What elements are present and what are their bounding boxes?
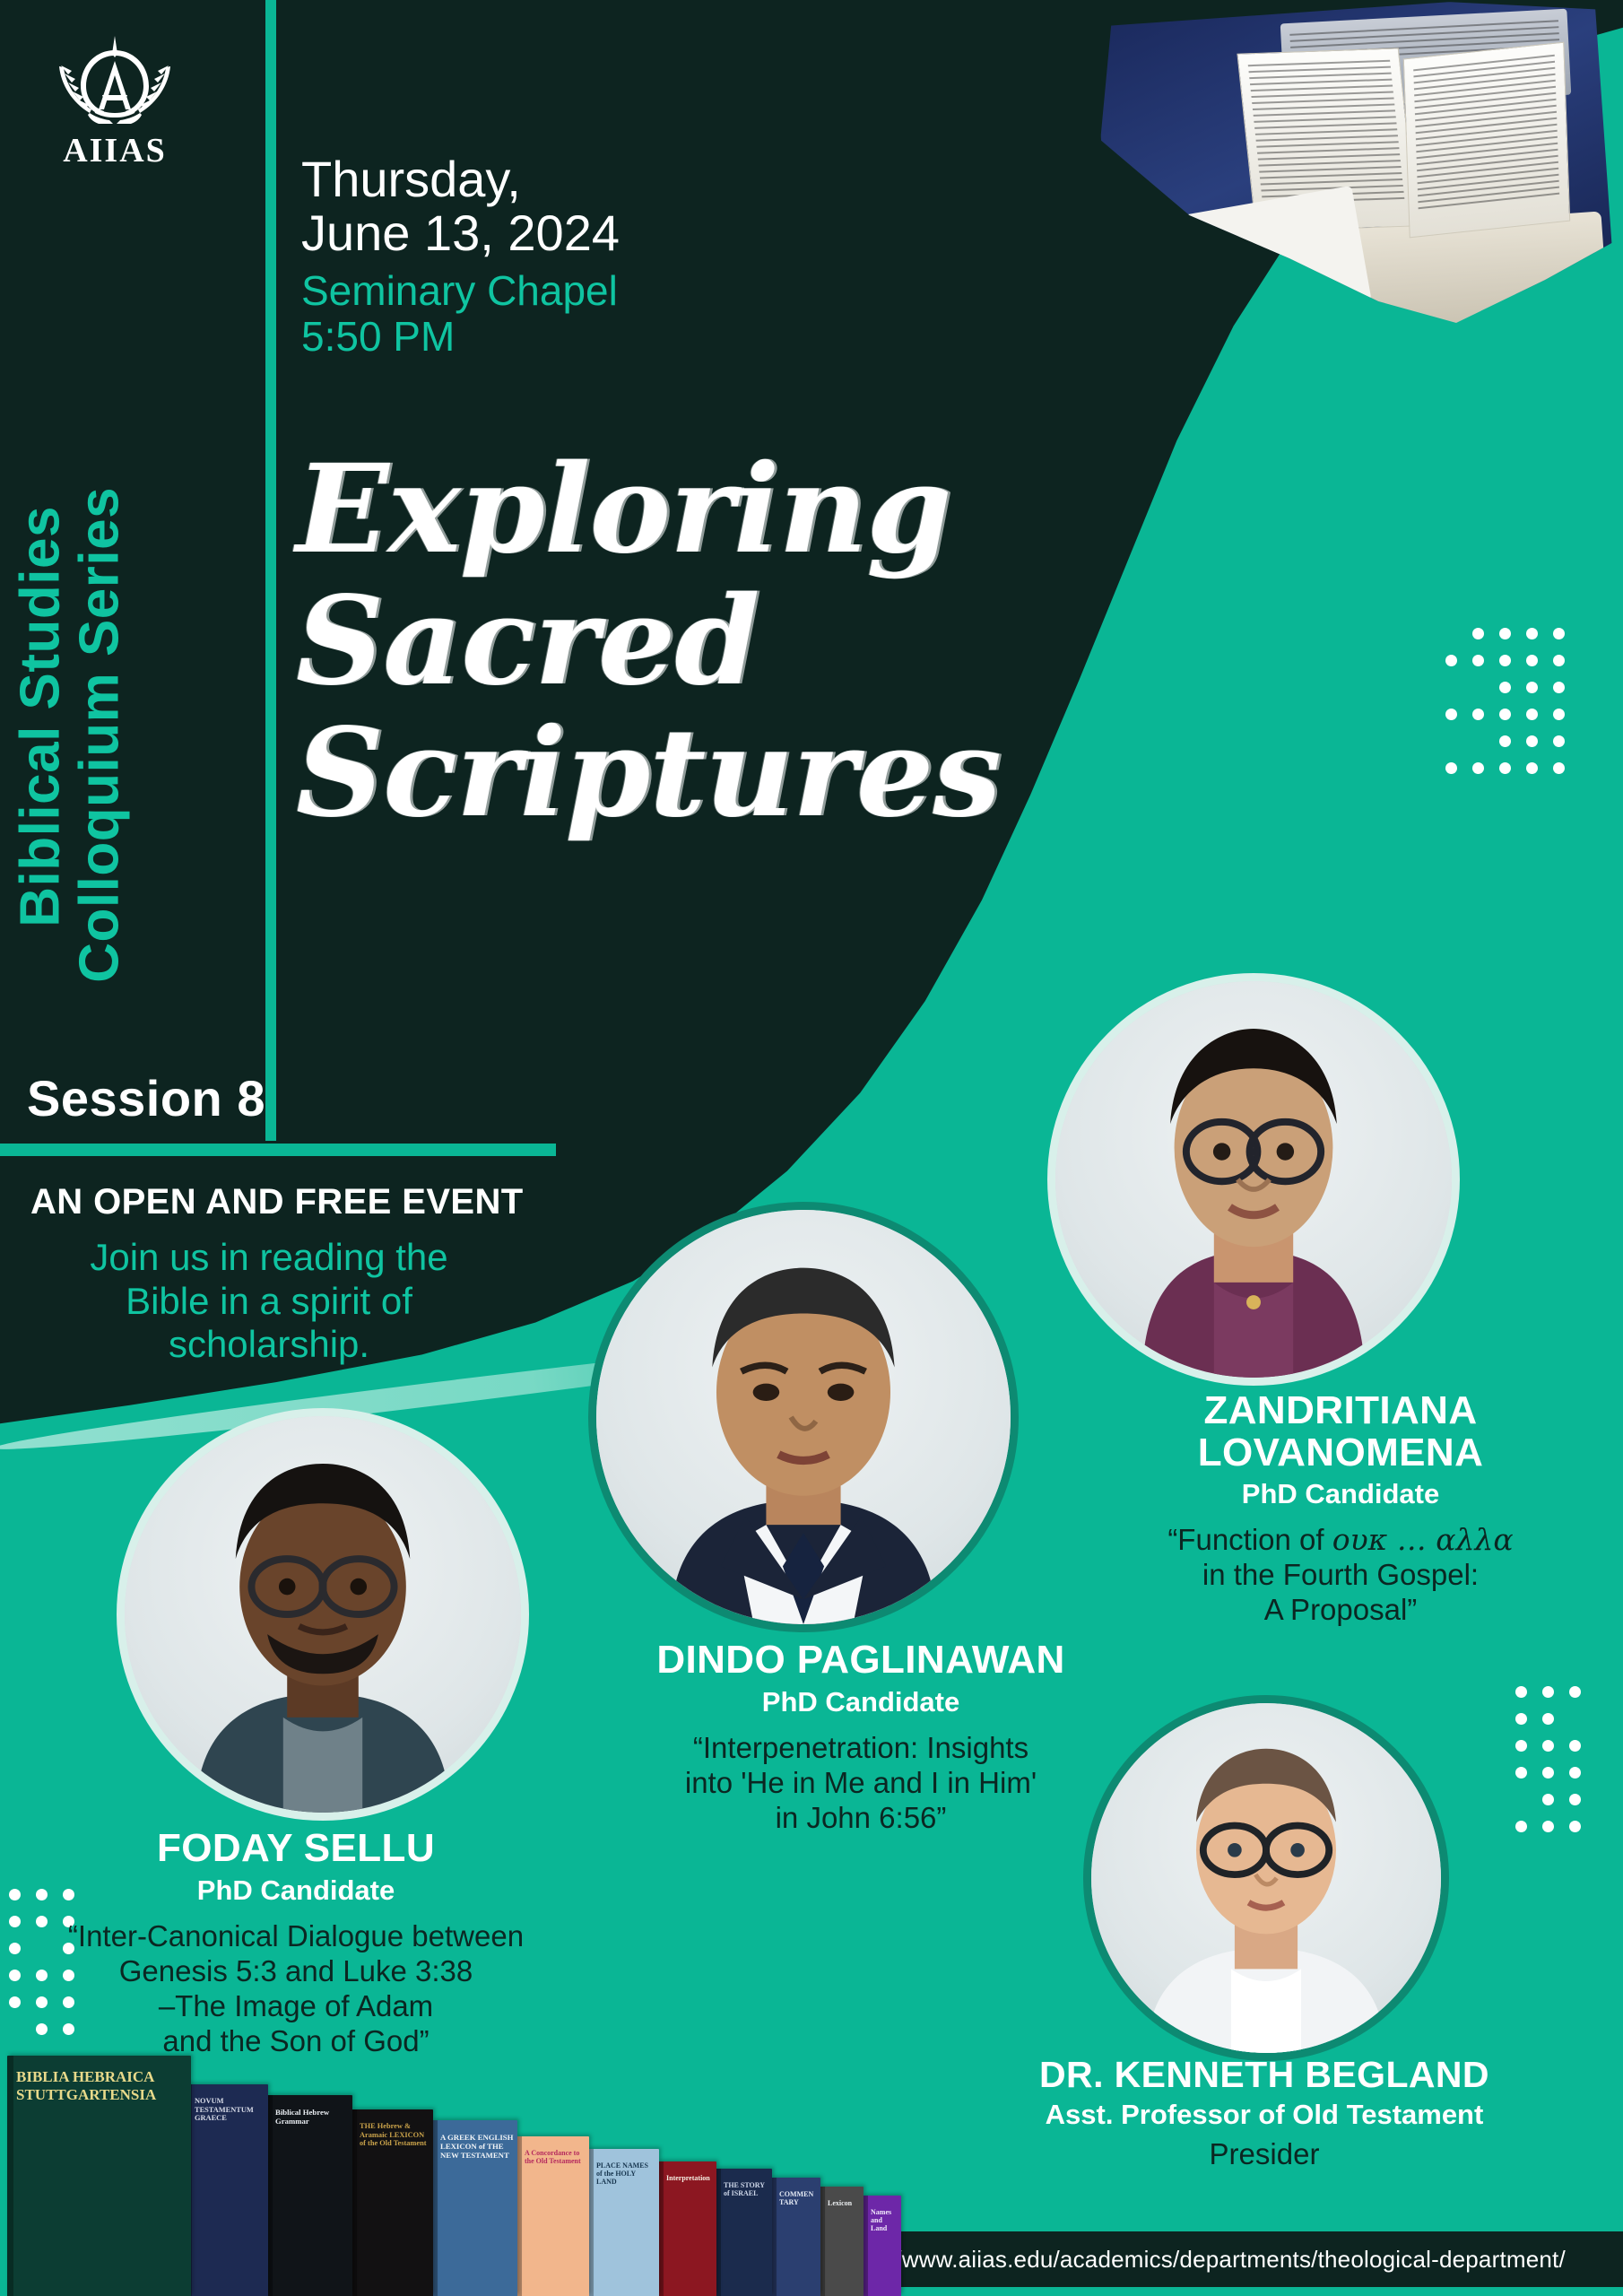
decorative-dot — [1472, 709, 1484, 720]
decorative-dot — [1472, 655, 1484, 666]
decorative-dot — [1542, 1767, 1554, 1779]
decorative-dot — [1542, 1686, 1554, 1698]
decorative-dot — [1526, 628, 1538, 639]
presenter-name: FODAY SELLU — [18, 1828, 574, 1870]
presenter-role: PhD Candidate — [18, 1874, 574, 1907]
series-title-vertical: Biblical Studies Colloquium Series — [11, 212, 128, 983]
decorative-dot — [1569, 1794, 1581, 1805]
dot-grid-top-right — [1445, 628, 1598, 798]
portrait-foday — [117, 1408, 529, 1821]
presenter-name-line2: LOVANOMENA — [1089, 1432, 1592, 1474]
paper-line-1: “Interpenetration: Insights — [601, 1731, 1121, 1766]
presenter-name-line1: ZANDRITIANA — [1089, 1390, 1592, 1432]
decorative-dot — [1499, 628, 1511, 639]
decorative-dot — [1542, 1740, 1554, 1752]
decorative-dot — [1526, 709, 1538, 720]
aiias-logo: AIIAS — [39, 34, 190, 167]
tagline-line-2: Bible in a spirit of — [36, 1280, 502, 1324]
title-line-2: Sacred — [296, 576, 1193, 708]
paper-line-2: in the Fourth Gospel: — [1089, 1558, 1592, 1593]
horizontal-rule — [0, 1144, 556, 1156]
series-title-line2: Colloquium Series — [70, 212, 129, 983]
portrait-zandritiana — [1047, 973, 1460, 1386]
poster-root: AIIAS Biblical Studies Colloquium Series… — [0, 0, 1623, 2296]
portrait-dindo — [588, 1202, 1019, 1632]
decorative-dot — [1445, 655, 1457, 666]
series-title-line1: Biblical Studies — [11, 212, 70, 983]
decorative-dot — [1445, 709, 1457, 720]
decorative-dot — [1542, 1794, 1554, 1805]
decorative-dot — [1542, 1821, 1554, 1832]
right-page-lines — [1413, 55, 1560, 225]
book-cover: COMMENTARY — [770, 2178, 820, 2296]
paper-line-3: –The Image of Adam — [18, 1989, 574, 2024]
book-title: BIBLIA HEBRAICA STUTTGARTENSIA — [16, 2068, 187, 2103]
book-title: NOVUM TESTAMENTUM GRAECE — [195, 2097, 265, 2123]
decorative-dot — [1472, 628, 1484, 639]
avatar-illustration — [1091, 1703, 1441, 2053]
book-cover: Names and Land — [862, 2196, 901, 2296]
books-shelf: BIBLIA HEBRAICA STUTTGARTENSIANOVUM TEST… — [0, 2036, 897, 2296]
decorative-dot — [1553, 735, 1565, 747]
presider-name: DR. KENNETH BEGLAND — [977, 2056, 1551, 2094]
book-cover: THE Hebrew & Aramaic LEXICON of the Old … — [351, 2109, 433, 2296]
event-day: Thursday, — [301, 152, 803, 206]
paper-greek-phrase: ουκ … αλλα — [1332, 1522, 1514, 1557]
event-venue: Seminary Chapel — [301, 268, 803, 315]
decorative-dot — [1445, 762, 1457, 774]
book-spine — [7, 2056, 13, 2296]
book-title: Biblical Hebrew Grammar — [275, 2108, 349, 2126]
book-title: THE STORY of ISRAEL — [724, 2181, 768, 2197]
paper-line-3: in John 6:56” — [601, 1801, 1121, 1836]
open-free-headline: AN OPEN AND FREE EVENT — [30, 1182, 524, 1222]
book-cover: A GREEK ENGLISH LEXICON of THE NEW TESTA… — [431, 2120, 517, 2296]
decorative-dot — [1569, 1686, 1581, 1698]
book-title: A GREEK ENGLISH LEXICON of THE NEW TESTA… — [440, 2133, 514, 2160]
presenter-dindo-info: DINDO PAGLINAWAN PhD Candidate “Interpen… — [601, 1639, 1121, 1836]
decorative-dot — [1515, 1686, 1527, 1698]
tagline-line-3: scholarship. — [36, 1323, 502, 1367]
avatar-illustration — [1055, 981, 1452, 1378]
session-label: Session 8 — [27, 1069, 265, 1127]
book-title: Interpretation — [666, 2174, 713, 2182]
book-title: A Concordance to the Old Testament — [525, 2149, 586, 2165]
book-cover: Biblical Hebrew Grammar — [266, 2095, 352, 2296]
book-cover: Interpretation — [657, 2161, 716, 2296]
decorative-dot — [1553, 762, 1565, 774]
decorative-dot — [1515, 1740, 1527, 1752]
presenter-zandritiana-info: ZANDRITIANA LOVANOMENA PhD Candidate “Fu… — [1089, 1390, 1592, 1628]
book-cover: PLACE NAMES of the HOLY LAND — [587, 2149, 659, 2296]
aiias-laurel-crest-icon — [39, 34, 190, 135]
aiias-logo-text: AIIAS — [39, 131, 190, 170]
decorative-dot — [1553, 628, 1565, 639]
paper-line-1-prefix: “Function of — [1167, 1523, 1332, 1556]
dot-grid-middle-right — [1515, 1686, 1614, 1892]
event-details: Thursday, June 13, 2024 Seminary Chapel … — [301, 152, 803, 361]
book-cover: NOVUM TESTAMENTUM GRAECE — [186, 2084, 268, 2296]
decorative-dot — [1499, 655, 1511, 666]
book-title: Names and Land — [871, 2208, 898, 2233]
paper-line-2: Genesis 5:3 and Luke 3:38 — [18, 1954, 574, 1989]
portrait-begland — [1083, 1695, 1449, 2061]
avatar-illustration — [596, 1210, 1011, 1624]
book-title: THE Hebrew & Aramaic LEXICON of the Old … — [360, 2122, 430, 2148]
paper-line-3: A Proposal” — [1089, 1593, 1592, 1628]
book-title: PLACE NAMES of the HOLY LAND — [596, 2161, 655, 2187]
decorative-dot — [1542, 1713, 1554, 1725]
presenter-role: PhD Candidate — [601, 1685, 1121, 1718]
decorative-dot — [1569, 1767, 1581, 1779]
decorative-dot — [1499, 709, 1511, 720]
decorative-dot — [1553, 682, 1565, 693]
presenter-foday-info: FODAY SELLU PhD Candidate “Inter-Canonic… — [18, 1828, 574, 2059]
presenter-role: PhD Candidate — [1089, 1477, 1592, 1510]
decorative-dot — [1569, 1821, 1581, 1832]
decorative-dot — [1499, 682, 1511, 693]
decorative-dot — [1569, 1740, 1581, 1752]
decorative-dot — [1499, 735, 1511, 747]
decorative-dot — [1553, 709, 1565, 720]
book-cover: THE STORY of ISRAEL — [715, 2169, 772, 2296]
decorative-dot — [1472, 762, 1484, 774]
bible-right-page — [1403, 42, 1570, 239]
presider-role: Asst. Professor of Old Testament — [977, 2098, 1551, 2131]
decorative-dot — [1499, 762, 1511, 774]
title-line-1: Exploring — [296, 444, 1193, 576]
decorative-dot — [1515, 1767, 1527, 1779]
paper-line-1: “Function of ουκ … αλλα — [1089, 1523, 1592, 1558]
decorative-dot — [1553, 655, 1565, 666]
footer-url[interactable]: https://www.aiias.edu/academics/departme… — [830, 2246, 1566, 2274]
presider-info: DR. KENNETH BEGLAND Asst. Professor of O… — [977, 2056, 1551, 2172]
book-cover: A Concordance to the Old Testament — [516, 2136, 589, 2296]
decorative-dot — [1526, 682, 1538, 693]
book-title: Lexicon — [828, 2199, 860, 2207]
tagline: Join us in reading the Bible in a spirit… — [36, 1236, 502, 1367]
vertical-rule-top — [265, 0, 276, 1141]
presenter-paper-title: “Function of ουκ … αλλα in the Fourth Go… — [1089, 1523, 1592, 1628]
avatar-illustration — [125, 1416, 521, 1813]
book-title: COMMENTARY — [779, 2190, 817, 2206]
event-time: 5:50 PM — [301, 314, 803, 361]
decorative-dot — [1526, 735, 1538, 747]
event-date: June 13, 2024 — [301, 206, 803, 260]
presider-function: Presider — [977, 2137, 1551, 2172]
presenter-name: ZANDRITIANA LOVANOMENA — [1089, 1390, 1592, 1474]
decorative-dot — [1526, 762, 1538, 774]
presenter-name: DINDO PAGLINAWAN — [601, 1639, 1121, 1682]
paper-line-2: into 'He in Me and I in Him' — [601, 1766, 1121, 1801]
paper-line-1: “Inter-Canonical Dialogue between — [18, 1919, 574, 1954]
decorative-dot — [1526, 655, 1538, 666]
book-cover: BIBLIA HEBRAICA STUTTGARTENSIA — [7, 2056, 191, 2296]
decorative-dot — [1515, 1713, 1527, 1725]
book-cover: Lexicon — [819, 2187, 864, 2296]
page-title: Exploring Sacred Scriptures — [296, 444, 1193, 839]
decorative-dot — [1515, 1821, 1527, 1832]
presenter-paper-title: “Interpenetration: Insights into 'He in … — [601, 1731, 1121, 1836]
tagline-line-1: Join us in reading the — [36, 1236, 502, 1280]
title-line-3: Scriptures — [296, 708, 1193, 839]
